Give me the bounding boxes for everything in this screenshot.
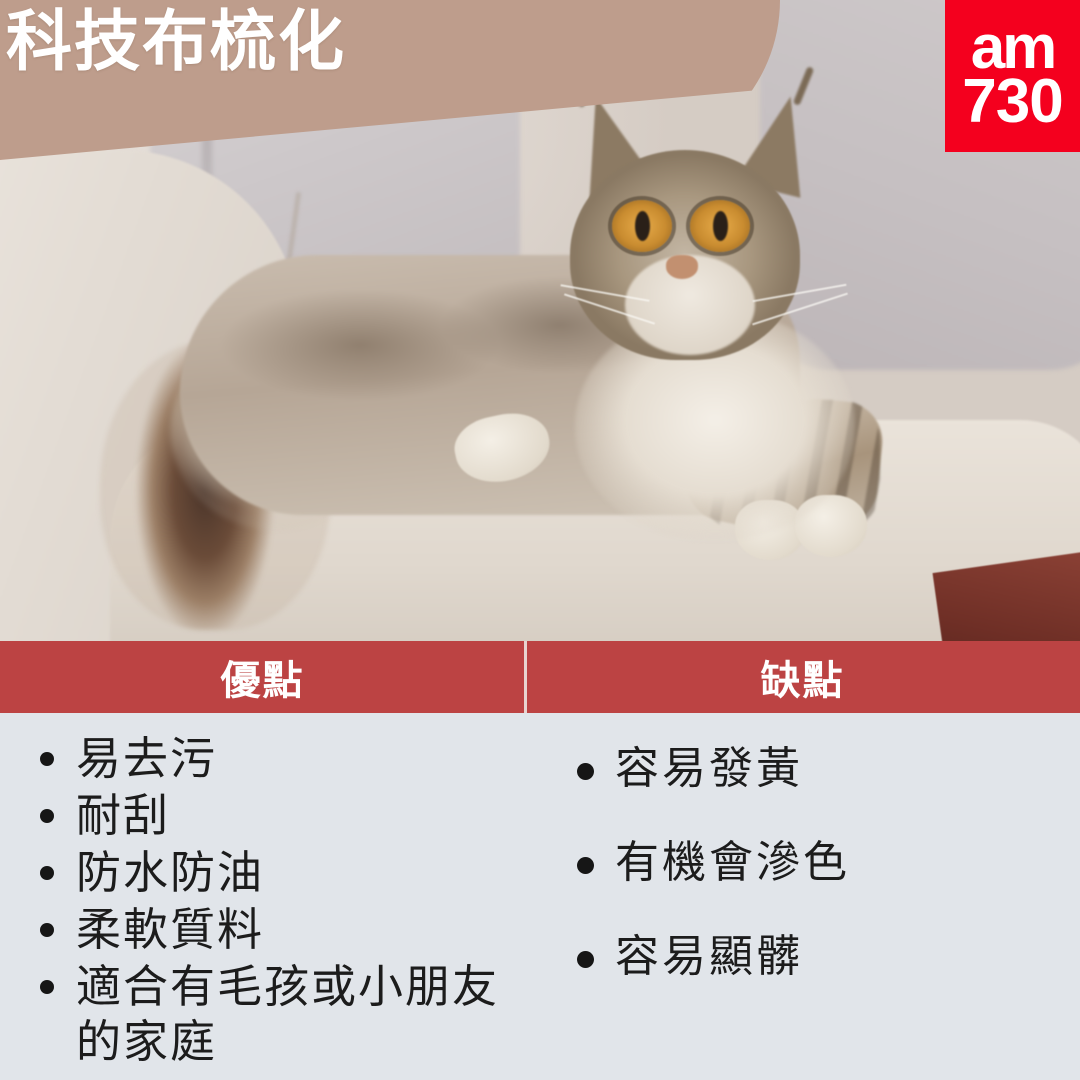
am730-logo[interactable]: am 730 xyxy=(945,0,1080,152)
header-divider xyxy=(524,641,527,713)
list-item-label: 有機會滲色 xyxy=(615,837,1070,889)
list-item: 容易發黃 xyxy=(569,743,1070,795)
cons-column: 容易發黃 有機會滲色 容易顯髒 xyxy=(525,713,1080,1080)
bullet-icon xyxy=(40,980,54,994)
pros-list: 易去污 耐刮 防水防油 柔軟質料 適合有毛孩或小朋友的家庭 xyxy=(34,731,515,1069)
column-header-pros: 優點 xyxy=(0,641,525,713)
bullet-icon xyxy=(577,857,594,874)
list-item-label: 適合有毛孩或小朋友的家庭 xyxy=(76,959,515,1069)
logo-text-am: am xyxy=(971,23,1055,74)
list-item-label: 易去污 xyxy=(76,731,515,786)
list-item: 適合有毛孩或小朋友的家庭 xyxy=(34,959,515,1069)
bullet-icon xyxy=(40,752,54,766)
page-title: 科技布梳化 xyxy=(6,8,346,74)
pros-column: 易去污 耐刮 防水防油 柔軟質料 適合有毛孩或小朋友的家庭 xyxy=(0,713,525,1080)
cat-nose xyxy=(666,255,698,279)
list-item: 易去污 xyxy=(34,731,515,786)
list-item: 耐刮 xyxy=(34,788,515,843)
bullet-icon xyxy=(40,809,54,823)
bullet-icon xyxy=(577,763,594,780)
cons-list: 容易發黃 有機會滲色 容易顯髒 xyxy=(569,743,1070,983)
list-item-label: 容易發黃 xyxy=(615,743,1070,795)
bullet-icon xyxy=(40,866,54,880)
list-item: 防水防油 xyxy=(34,845,515,900)
bullet-icon xyxy=(40,923,54,937)
list-item-label: 容易顯髒 xyxy=(615,931,1070,983)
column-header-cons: 缺點 xyxy=(525,641,1080,713)
comparison-table-header: 優點 缺點 xyxy=(0,641,1080,713)
list-item: 柔軟質料 xyxy=(34,902,515,957)
logo-text-730: 730 xyxy=(962,74,1062,130)
cat-eye-right xyxy=(690,200,750,252)
list-item-label: 柔軟質料 xyxy=(76,902,515,957)
list-item: 容易顯髒 xyxy=(569,931,1070,983)
comparison-table-body: 易去污 耐刮 防水防油 柔軟質料 適合有毛孩或小朋友的家庭 容易發黃 有機會滲色… xyxy=(0,713,1080,1080)
infographic-card: 科技布梳化 am 730 優點 缺點 易去污 耐刮 防水防油 柔軟質料 適合有毛… xyxy=(0,0,1080,1080)
list-item-label: 防水防油 xyxy=(76,845,515,900)
list-item: 有機會滲色 xyxy=(569,837,1070,889)
list-item-label: 耐刮 xyxy=(76,788,515,843)
cat-eye-left xyxy=(612,200,672,252)
bullet-icon xyxy=(577,951,594,968)
